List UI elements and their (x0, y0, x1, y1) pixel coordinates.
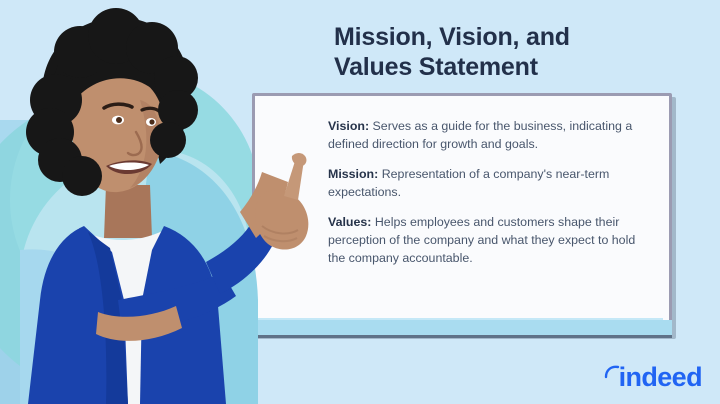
definition-mission-label: Mission: (328, 167, 378, 181)
eye-left-iris (116, 117, 122, 123)
whiteboard-text-block: Vision: Serves as a guide for the busine… (328, 118, 638, 267)
indeed-logo: indeed (604, 364, 702, 391)
hair-lobe-10 (62, 156, 102, 196)
indeed-logo-text: indeed (619, 364, 702, 391)
page-title: Mission, Vision, and Values Statement (334, 22, 664, 82)
page-title-line-1: Mission, Vision, and (334, 23, 570, 51)
eye-right-iris (149, 119, 154, 124)
definition-values-body: Helps employees and customers shape thei… (328, 215, 635, 264)
hair-lobe-9 (150, 122, 186, 158)
pointing-hand (255, 153, 308, 250)
slide-canvas: Mission, Vision, and Values Statement Vi… (0, 0, 720, 404)
definition-vision-body: Serves as a guide for the business, indi… (328, 119, 632, 151)
neck (104, 185, 152, 238)
definition-mission: Mission: Representation of a company's n… (328, 166, 638, 201)
definition-vision: Vision: Serves as a guide for the busine… (328, 118, 638, 153)
definition-values: Values: Helps employees and customers sh… (328, 214, 638, 267)
definition-vision-label: Vision: (328, 119, 369, 133)
page-title-line-2: Values Statement (334, 52, 664, 82)
presenter-illustration (0, 0, 320, 404)
definition-values-label: Values: (328, 215, 371, 229)
